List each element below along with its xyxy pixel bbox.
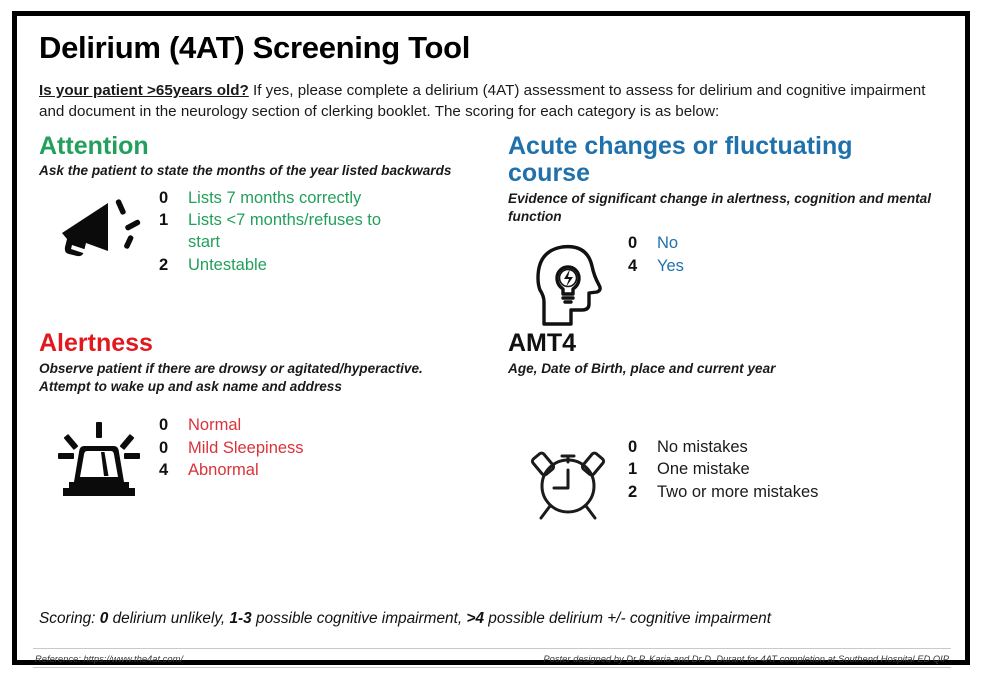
poster-content: Delirium (4AT) Screening Tool Is your pa… bbox=[17, 16, 965, 660]
score-value: 0 bbox=[159, 437, 179, 459]
alarm-clock-icon bbox=[508, 436, 628, 522]
score-label: Yes bbox=[657, 255, 684, 277]
score-value: 1 bbox=[159, 209, 179, 231]
scoring-text-0: delirium unlikely, bbox=[108, 610, 229, 627]
section-alertness: Alertness Observe patient if there are d… bbox=[39, 330, 492, 544]
score-label: Abnormal bbox=[188, 459, 259, 481]
footer-divider-bottom bbox=[33, 667, 951, 668]
list-item: 1 One mistake bbox=[628, 458, 818, 480]
score-value: 0 bbox=[628, 232, 648, 254]
scoring-value-2: >4 bbox=[466, 610, 484, 627]
score-label: One mistake bbox=[657, 458, 750, 480]
intro-question: Is your patient >65years old? bbox=[39, 82, 249, 99]
section-alertness-description: Observe patient if there are drowsy or a… bbox=[39, 360, 469, 396]
section-attention-scores: 0 Lists 7 months correctly 1 Lists <7 mo… bbox=[159, 187, 403, 277]
section-attention-description: Ask the patient to state the months of t… bbox=[39, 162, 469, 180]
score-label: Two or more mistakes bbox=[657, 481, 818, 503]
scoring-text-1: possible cognitive impairment, bbox=[252, 610, 467, 627]
score-value: 0 bbox=[159, 187, 179, 209]
score-label: Mild Sleepiness bbox=[188, 437, 304, 459]
section-acute-changes-scores: 0 No 4 Yes bbox=[628, 232, 684, 277]
score-label: Untestable bbox=[188, 254, 267, 276]
score-value: 1 bbox=[628, 458, 648, 480]
section-alertness-scores: 0 Normal 0 Mild Sleepiness 4 Abnormal bbox=[159, 414, 304, 481]
score-value: 4 bbox=[628, 255, 648, 277]
list-item: 0 Lists 7 months correctly bbox=[159, 187, 403, 209]
section-attention-heading: Attention bbox=[39, 133, 486, 161]
score-label: Normal bbox=[188, 414, 241, 436]
section-acute-changes: Acute changes or fluctuating course Evid… bbox=[492, 133, 945, 330]
list-item: 4 Yes bbox=[628, 255, 684, 277]
section-alertness-body: 0 Normal 0 Mild Sleepiness 4 Abnormal bbox=[39, 414, 486, 498]
score-label: Lists 7 months correctly bbox=[188, 187, 361, 209]
footer-reference[interactable]: Reference: https://www.the4at.com/ bbox=[35, 653, 183, 664]
section-amt4-heading: AMT4 bbox=[508, 330, 939, 358]
section-acute-changes-description: Evidence of significant change in alertn… bbox=[508, 190, 938, 226]
list-item: 0 Normal bbox=[159, 414, 304, 436]
score-label: No mistakes bbox=[657, 436, 748, 458]
score-value: 2 bbox=[628, 481, 648, 503]
section-attention-body: 0 Lists 7 months correctly 1 Lists <7 mo… bbox=[39, 187, 486, 277]
sections-row-top: Attention Ask the patient to state the m… bbox=[39, 133, 945, 330]
scoring-text-2: possible delirium +/- cognitive impairme… bbox=[484, 610, 771, 627]
list-item: 1 Lists <7 months/refuses to start bbox=[159, 209, 403, 254]
section-acute-changes-heading: Acute changes or fluctuating course bbox=[508, 133, 939, 188]
score-value: 4 bbox=[159, 459, 179, 481]
section-amt4: AMT4 Age, Date of Birth, place and curre… bbox=[492, 330, 945, 544]
section-amt4-body: 0 No mistakes 1 One mistake 2 Two or mor… bbox=[508, 436, 939, 522]
footer-divider-top bbox=[33, 648, 951, 649]
list-item: 2 Two or more mistakes bbox=[628, 481, 818, 503]
score-label: No bbox=[657, 232, 678, 254]
score-value: 0 bbox=[159, 414, 179, 436]
list-item: 2 Untestable bbox=[159, 254, 403, 276]
list-item: 0 No mistakes bbox=[628, 436, 818, 458]
section-alertness-heading: Alertness bbox=[39, 330, 486, 358]
scoring-summary: Scoring: 0 delirium unlikely, 1-3 possib… bbox=[39, 609, 945, 629]
poster-frame: Delirium (4AT) Screening Tool Is your pa… bbox=[12, 11, 970, 665]
head-lightbulb-icon bbox=[508, 232, 628, 330]
section-acute-changes-body: 0 No 4 Yes bbox=[508, 232, 939, 330]
megaphone-icon bbox=[39, 187, 159, 267]
sections-grid: Attention Ask the patient to state the m… bbox=[39, 133, 945, 544]
score-label: Lists <7 months/refuses to start bbox=[188, 209, 403, 254]
page-title: Delirium (4AT) Screening Tool bbox=[39, 30, 945, 66]
list-item: 4 Abnormal bbox=[159, 459, 304, 481]
sections-row-bottom: Alertness Observe patient if there are d… bbox=[39, 330, 945, 544]
list-item: 0 Mild Sleepiness bbox=[159, 437, 304, 459]
score-value: 2 bbox=[159, 254, 179, 276]
siren-icon bbox=[39, 414, 159, 498]
intro-paragraph: Is your patient >65years old? If yes, pl… bbox=[39, 80, 929, 123]
footer-credit: Poster designed by Dr P. Karia and Dr D.… bbox=[543, 653, 949, 664]
section-amt4-description: Age, Date of Birth, place and current ye… bbox=[508, 360, 938, 378]
section-attention: Attention Ask the patient to state the m… bbox=[39, 133, 492, 330]
footer: Reference: https://www.the4at.com/ Poste… bbox=[35, 653, 949, 664]
score-value: 0 bbox=[628, 436, 648, 458]
scoring-value-1: 1-3 bbox=[229, 610, 251, 627]
scoring-prefix: Scoring: bbox=[39, 610, 100, 627]
section-amt4-scores: 0 No mistakes 1 One mistake 2 Two or mor… bbox=[628, 436, 818, 503]
list-item: 0 No bbox=[628, 232, 684, 254]
